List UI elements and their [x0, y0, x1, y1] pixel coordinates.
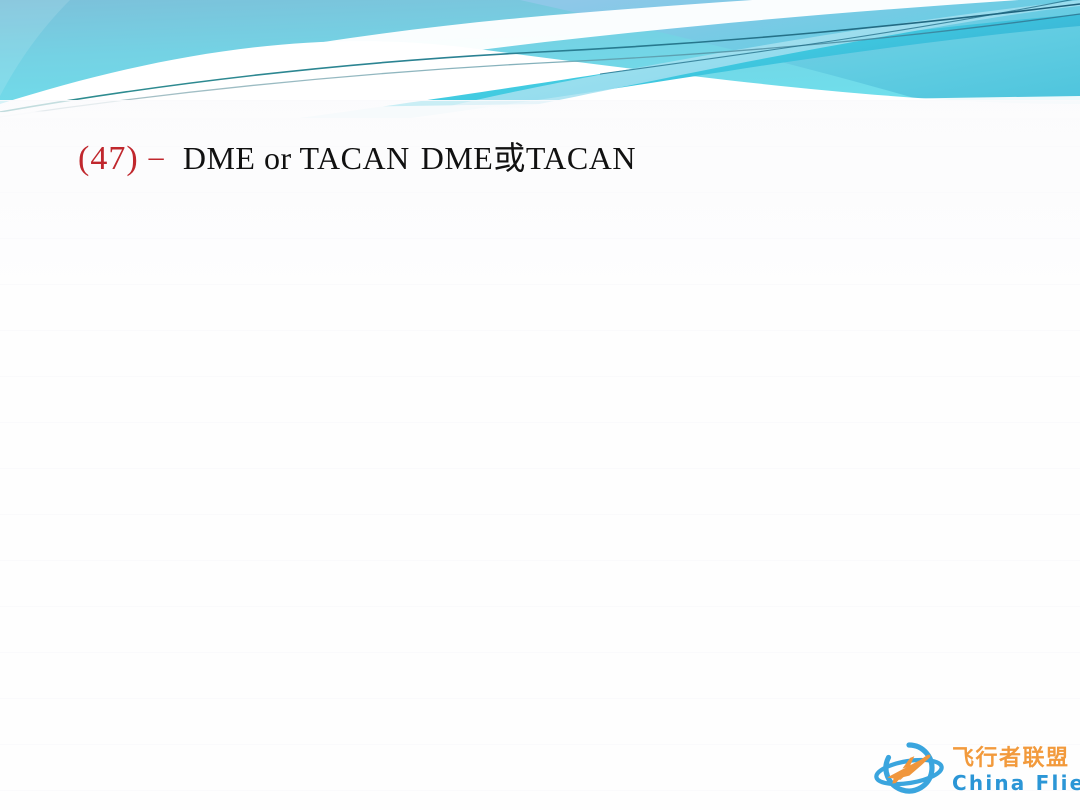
watermark-logo: 飞行者联盟 China Flier — [872, 736, 1076, 804]
logo-english-name: China Flier — [952, 773, 1080, 793]
airplane-orbit-emblem-icon — [872, 739, 946, 801]
headline-english-text: DME or TACAN — [183, 140, 410, 176]
headline-line: (47)–DME or TACANDME或TACAN — [78, 136, 636, 182]
headline-item-number: (47) — [78, 140, 139, 177]
slide-canvas: (47)–DME or TACANDME或TACAN 飞行者联盟 China F… — [0, 0, 1080, 810]
headline-chinese-text: DME或TACAN — [421, 140, 636, 176]
logo-wordmark: 飞行者联盟 China Flier — [952, 748, 1080, 793]
slide-content: (47)–DME or TACANDME或TACAN — [0, 0, 1080, 810]
headline-dash: – — [139, 140, 170, 173]
logo-chinese-name: 飞行者联盟 — [952, 748, 1080, 770]
